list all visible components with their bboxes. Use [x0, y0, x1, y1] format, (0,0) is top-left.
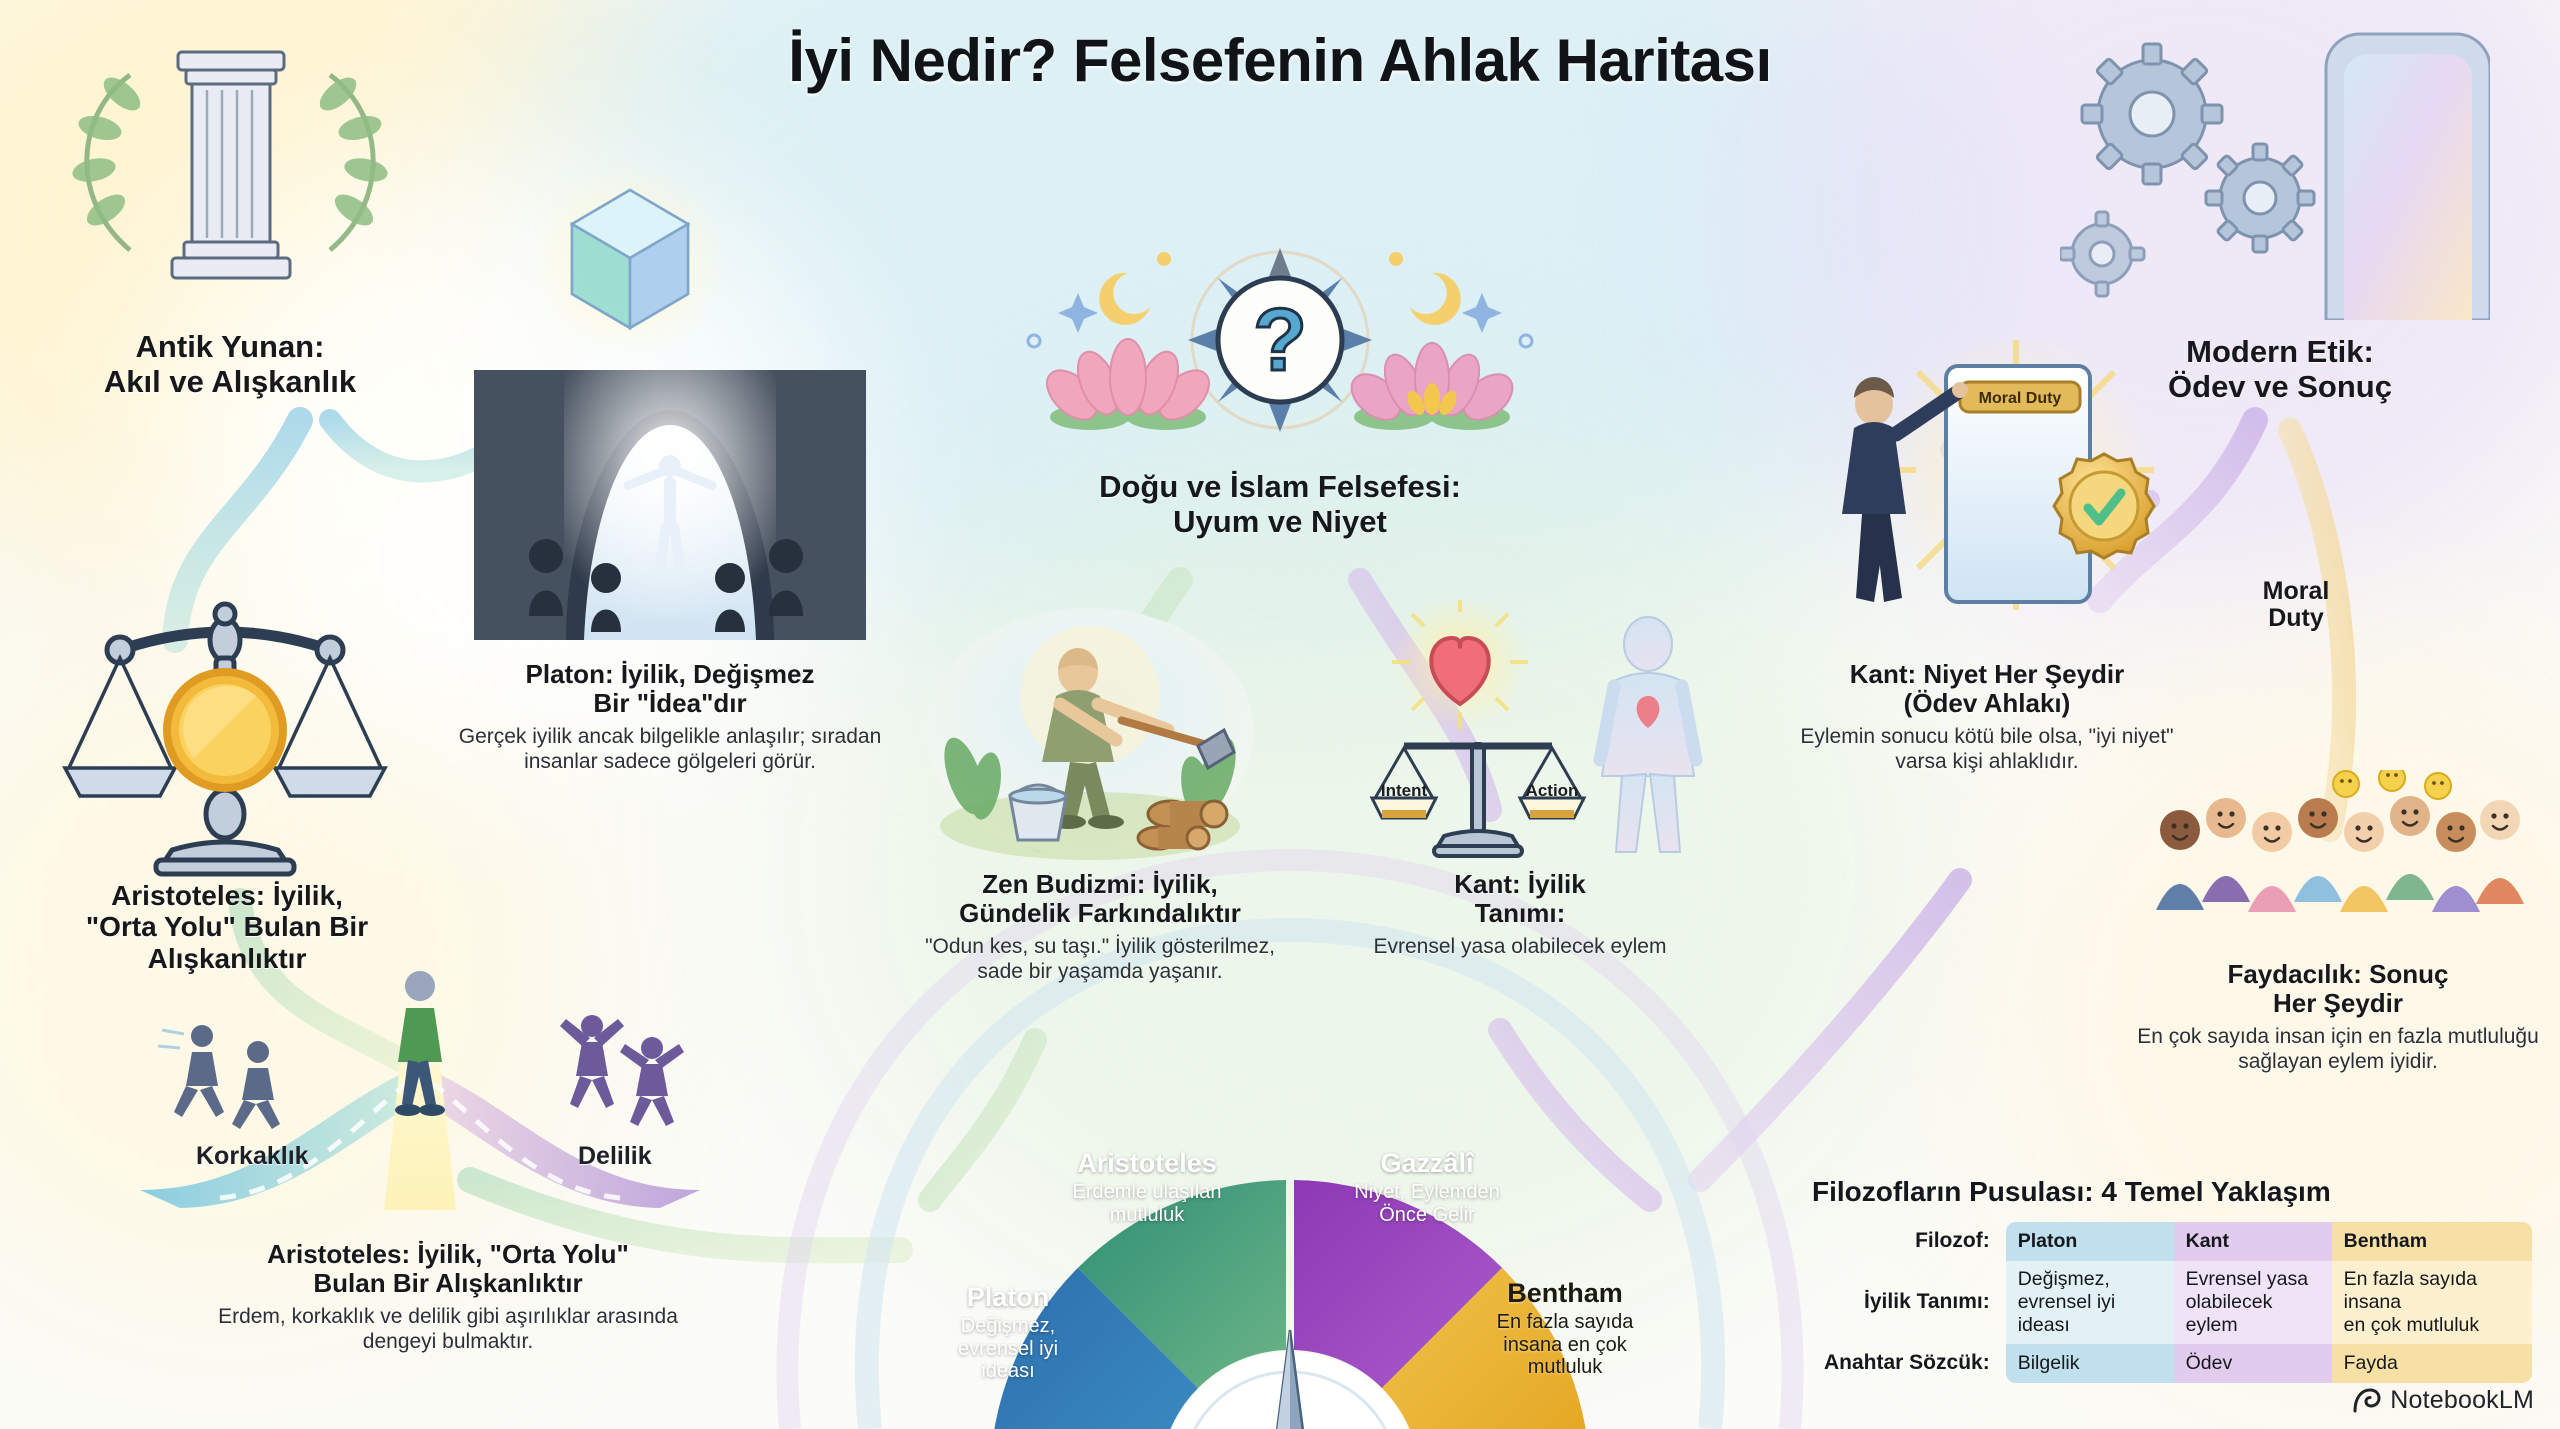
table-row: Filozof: Platon Kant Bentham — [1812, 1222, 2532, 1261]
leaf-kant-definition-desc: Evrensel yasa olabilecek eylem — [1340, 934, 1700, 959]
compass-table-panel: Filozofların Pusulası: 4 Temel Yaklaşım … — [1812, 1176, 2532, 1383]
leaf-zen-desc: "Odun kes, su taşı." İyilik gösterilmez,… — [900, 934, 1300, 984]
leaf-plato-title: Platon: İyilik, Değişmez Bir "İdea"dır — [452, 660, 888, 718]
table-row-label-keyword: Anahtar Sözcük: — [1812, 1344, 2006, 1383]
balance-scale-icon — [60, 600, 390, 880]
table-cell-bentham-keyword: Fayda — [2332, 1344, 2532, 1383]
leaf-aristotle-road-desc: Erdem, korkaklık ve delilik gibi aşırılı… — [180, 1304, 716, 1354]
scale-label-intent: Intent — [1381, 781, 1428, 800]
branch-greek: Antik Yunan: Akıl ve Alışkanlık — [40, 330, 420, 399]
leaf-kant-duty-title: Kant: Niyet Her Şeydir (Ödev Ahlakı) — [1782, 660, 2192, 718]
table-row: İyilik Tanımı: Değişmez, evrensel iyi id… — [1812, 1261, 2532, 1344]
table-row-label-definition: İyilik Tanımı: — [1812, 1261, 2006, 1344]
leaf-kant-definition: Kant: İyilik Tanımı: Evrensel yasa olabi… — [1340, 870, 1700, 959]
wheel-segment-bentham: Bentham En fazla sayıda insana en çok mu… — [1460, 1278, 1670, 1378]
middle-road-icon — [140, 960, 700, 1210]
road-label-cowardice: Korkaklık — [196, 1142, 309, 1171]
plato-cave-icon — [474, 370, 866, 640]
wheel-segment-gazzali: Gazzâlî Niyet, Eylemden Önce Gelir — [1312, 1148, 1542, 1226]
leaf-plato-desc: Gerçek iyilik ancak bilgelikle anlaşılır… — [452, 724, 888, 774]
notebooklm-label: NotebookLM — [2390, 1386, 2534, 1415]
table-cell-platon-keyword: Bilgelik — [2006, 1344, 2174, 1383]
table-row: Anahtar Sözcük: Bilgelik Ödev Fayda — [1812, 1344, 2532, 1383]
leaf-aristotle-road: Aristoteles: İyilik, "Orta Yolu" Bulan B… — [180, 1240, 716, 1355]
moral-duty-banner-text: Moral Duty — [1979, 390, 2062, 407]
leaf-aristotle-road-title: Aristoteles: İyilik, "Orta Yolu" Bulan B… — [180, 1240, 716, 1298]
branch-eastern-title: Doğu ve İslam Felsefesi: Uyum ve Niyet — [990, 470, 1570, 539]
table-cell-kant-definition: Evrensel yasa olabilecek eylem — [2174, 1261, 2332, 1344]
leaf-kant-duty: Kant: Niyet Her Şeydir (Ödev Ahlakı) Eyl… — [1782, 660, 2192, 775]
eastern-compass-lotus-icon: ? — [1020, 225, 1540, 465]
philosophers-compass-wheel: Platon Değişmez, evrensel iyi ideası Ari… — [890, 1100, 1690, 1429]
notebooklm-watermark: NotebookLM — [2351, 1385, 2534, 1415]
compass-table-title: Filozofların Pusulası: 4 Temel Yaklaşım — [1812, 1176, 2532, 1208]
zen-monk-icon — [920, 600, 1260, 870]
leaf-utilitarianism-title: Faydacılık: Sonuç Her Şeydir — [2128, 960, 2548, 1018]
branch-greek-title: Antik Yunan: Akıl ve Alışkanlık — [40, 330, 420, 399]
svg-text:?: ? — [1253, 290, 1307, 389]
leaf-kant-definition-title: Kant: İyilik Tanımı: — [1340, 870, 1700, 928]
leaf-zen: Zen Budizmi: İyilik, Gündelik Farkındalı… — [900, 870, 1300, 985]
leaf-utilitarianism: Faydacılık: Sonuç Her Şeydir En çok sayı… — [2128, 960, 2548, 1075]
branch-eastern: Doğu ve İslam Felsefesi: Uyum ve Niyet — [990, 470, 1570, 539]
compass-table: Filozof: Platon Kant Bentham İyilik Tanı… — [1812, 1222, 2532, 1383]
table-cell-platon-definition: Değişmez, evrensel iyi ideası — [2006, 1261, 2174, 1344]
table-cell-bentham-definition: En fazla sayıda insana en çok mutluluk — [2332, 1261, 2532, 1344]
notebooklm-logo-icon — [2351, 1385, 2381, 1415]
leaf-kant-duty-desc: Eylemin sonucu kötü bile olsa, "iyi niye… — [1782, 724, 2192, 774]
table-cell-platon-name: Platon — [2006, 1222, 2174, 1261]
intent-action-scale-icon: Intent Action — [1330, 600, 1730, 870]
greek-column-icon — [60, 20, 400, 320]
happy-crowd-icon — [2140, 770, 2540, 970]
table-cell-bentham-name: Bentham — [2332, 1222, 2532, 1261]
modern-ethics-gears-icon — [2060, 10, 2490, 320]
idea-crystal-icon — [510, 160, 750, 360]
leaf-plato: Platon: İyilik, Değişmez Bir "İdea"dır G… — [452, 660, 888, 775]
scale-label-action: Action — [1526, 781, 1579, 800]
wheel-segment-platon: Platon Değişmez, evrensel iyi ideası — [908, 1282, 1108, 1382]
road-label-recklessness: Delilik — [578, 1142, 652, 1171]
leaf-zen-title: Zen Budizmi: İyilik, Gündelik Farkındalı… — [900, 870, 1300, 928]
wheel-segment-aristoteles: Aristoteles Erdemle ulaşılan mutluluk — [1032, 1148, 1262, 1226]
table-cell-kant-name: Kant — [2174, 1222, 2332, 1261]
leaf-utilitarianism-desc: En çok sayıda insan için en fazla mutlul… — [2128, 1024, 2548, 1074]
table-row-label-philosopher: Filozof: — [1812, 1222, 2006, 1261]
table-cell-kant-keyword: Ödev — [2174, 1344, 2332, 1383]
infographic-canvas: İyi Nedir? Felsefenin Ahlak Haritası — [0, 0, 2560, 1429]
moral-duty-caption: Moral Duty — [2226, 578, 2366, 632]
moral-duty-tablet-icon: Moral Duty — [1800, 340, 2220, 640]
